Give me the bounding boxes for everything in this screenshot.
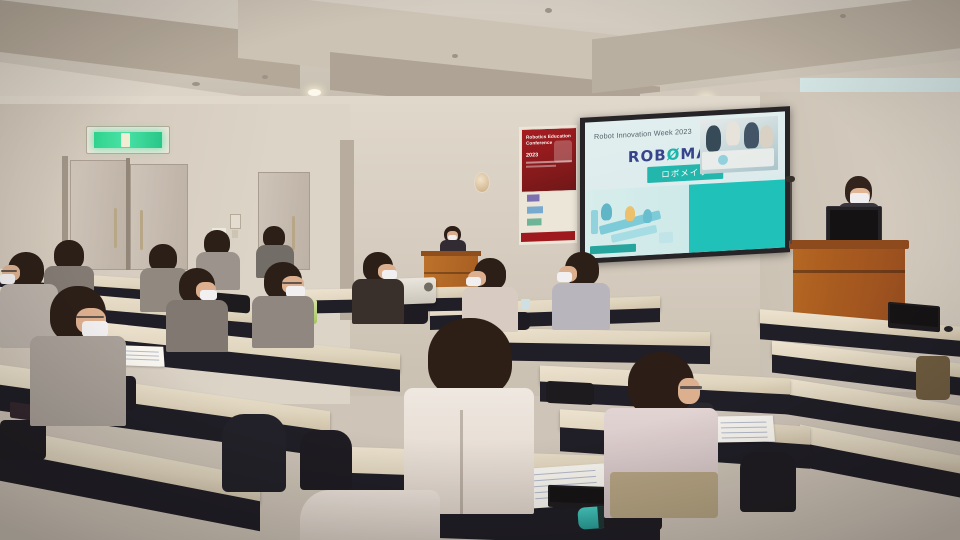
ceiling-sensor-icon [192,82,200,86]
exit-sign-panel [94,132,162,148]
ceiling-downlight [308,89,321,96]
side-mouse[interactable] [944,326,953,332]
shoulder-bag [546,381,594,406]
conference-room-photo: Robotics Education Conference 2023 Robot… [0,0,960,540]
door-handle-icon[interactable] [114,208,117,248]
poster-sponsor-logos [527,193,569,228]
emergency-exit-sign [86,126,170,154]
cup [521,299,530,310]
chair[interactable] [740,452,796,512]
poster-year: 2023 [526,152,538,158]
logo-part-1: ROB [628,146,667,166]
ceiling-sensor-icon [262,75,268,79]
attendee [166,268,228,352]
slide-photo-inset [700,116,778,174]
projection-screen: Robot Innovation Week 2023 ROBØMATES ロボメ… [580,106,790,264]
logo-part-mid: Ø [667,145,681,164]
conference-poster: Robotics Education Conference 2023 [519,127,577,251]
ceiling-sensor-icon [840,14,846,18]
chair[interactable] [300,430,352,490]
handout-papers [119,345,164,367]
attendee [352,252,404,324]
attendee [552,252,610,330]
slide-surface: Robot Innovation Week 2023 ROBØMATES ロボメ… [585,111,785,258]
attendee-foreground [300,490,440,540]
slide-illustration [585,179,785,258]
chair[interactable] [222,414,286,492]
wall-clock [474,172,490,193]
poster-footer-band [521,231,575,242]
attendee [252,262,314,348]
ceiling-sensor-icon [452,54,458,58]
ceiling-speaker-icon [545,8,552,13]
microphone-stand [790,180,792,244]
slide-title: Robot Innovation Week 2023 [594,127,692,141]
poster-robot-icon [554,140,572,163]
poster-line1: Robotics Education [526,133,571,140]
attendee [30,286,126,426]
microphone-icon [785,176,795,182]
running-person-icon [121,133,130,147]
handout-papers [715,415,775,442]
poster-line2: Conference [526,140,552,146]
chair[interactable] [0,420,46,460]
attendee [404,318,534,514]
projector-lens-icon [424,282,433,291]
side-laptop[interactable] [888,302,940,333]
attendee [604,352,718,518]
shoulder-bag[interactable] [916,356,950,400]
wall-switch-plate[interactable] [230,214,241,229]
